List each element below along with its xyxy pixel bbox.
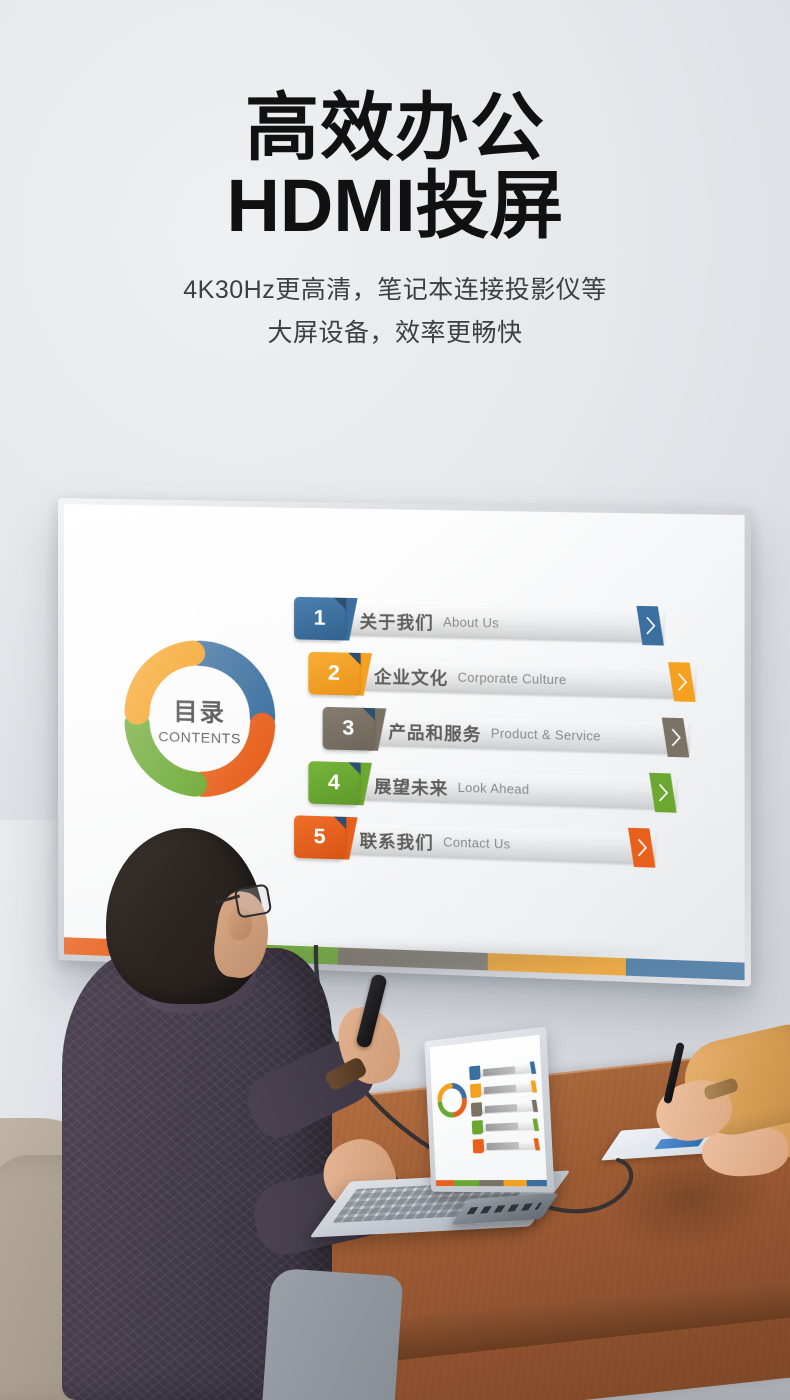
- laptop-color-strip: [436, 1180, 547, 1186]
- laptop-menu-item-4: [472, 1117, 542, 1135]
- slide-menu-item-4[interactable]: 4 展望未来 Look Ahead: [308, 761, 695, 817]
- item-number-badge: 1: [294, 597, 345, 641]
- item-label-en: Look Ahead: [458, 780, 530, 796]
- laptop-item-badge: [470, 1084, 482, 1099]
- lstrip-amber: [503, 1180, 526, 1186]
- item-number-badge: 4: [308, 761, 359, 805]
- hub-cable: [540, 1150, 680, 1240]
- ring-center-text: 目录 CONTENTS: [122, 690, 278, 747]
- hero-text-block: 高效办公 HDMI投屏 4K30Hz更高清，笔记本连接投影仪等 大屏设备，效率更…: [0, 0, 790, 430]
- item-label-cn: 关于我们: [360, 607, 434, 634]
- laptop-contents-ring-logo: [436, 1081, 469, 1120]
- item-label-en: Contact Us: [443, 835, 510, 851]
- lstrip-orange-red: [436, 1180, 455, 1186]
- laptop-screen: [430, 1035, 547, 1186]
- glasses-lens: [234, 883, 273, 918]
- laptop-lid: [424, 1027, 554, 1193]
- item-label-en: About Us: [443, 615, 499, 630]
- item-label-en: Corporate Culture: [458, 670, 567, 687]
- laptop-menu-list: [469, 1060, 542, 1157]
- slide-menu-item-2[interactable]: 2 企业文化 Corporate Culture: [308, 652, 695, 706]
- lstrip-taupe: [479, 1180, 504, 1186]
- item-label-cn: 产品和服务: [388, 718, 481, 746]
- item-labels: 企业文化 Corporate Culture: [374, 660, 566, 694]
- item-label-cn: 展望未来: [374, 772, 448, 800]
- laptop-menu-item-2: [470, 1079, 539, 1099]
- presenter-glasses-icon: [214, 882, 270, 922]
- item-number-badge: 2: [308, 652, 359, 696]
- item-label-en: Product & Service: [491, 726, 601, 743]
- ring-label-cn: 目录: [122, 690, 278, 729]
- hero-subtitle: 4K30Hz更高清，笔记本连接投影仪等 大屏设备，效率更畅快: [0, 269, 790, 357]
- contents-ring-logo: 目录 CONTENTS: [122, 637, 278, 800]
- chevron-glyph: [676, 672, 688, 693]
- laptop-ring-arcs-icon: [436, 1081, 469, 1120]
- item-labels: 关于我们 About Us: [360, 605, 499, 638]
- item-labels: 产品和服务 Product & Service: [388, 716, 600, 751]
- slide-menu-item-3[interactable]: 3 产品和服务 Product & Service: [323, 707, 696, 762]
- chevron-glyph: [644, 615, 656, 636]
- laptop-menu-item-5: [473, 1137, 543, 1154]
- chevron-glyph: [657, 782, 669, 803]
- hero-subtitle-line2: 大屏设备，效率更畅快: [0, 312, 790, 356]
- laptop-item-badge: [469, 1066, 481, 1081]
- laptop-menu-item-1: [469, 1060, 538, 1081]
- hero-title-line2: HDMI投屏: [0, 169, 790, 243]
- presenter-legs: [261, 1268, 404, 1400]
- lstrip-green: [454, 1180, 479, 1186]
- hero-title-line1: 高效办公: [0, 92, 790, 165]
- item-label-cn: 企业文化: [374, 662, 448, 689]
- laptop-item-badge: [471, 1102, 483, 1117]
- laptop-item-text: [487, 1142, 520, 1150]
- product-marketing-page: 目录 CONTENTS 1 关于我们 About Us: [0, 0, 790, 1400]
- slide-menu-item-1[interactable]: 1 关于我们 About Us: [294, 597, 696, 651]
- hub-cable-path: [540, 1150, 680, 1240]
- hero-subtitle-line1: 4K30Hz更高清，笔记本连接投影仪等: [0, 269, 790, 313]
- chevron-glyph: [636, 837, 648, 858]
- item-number-badge: 3: [323, 707, 374, 751]
- laptop-menu-item-3: [471, 1098, 540, 1117]
- item-labels: 展望未来 Look Ahead: [374, 770, 529, 804]
- laptop-item-badge: [473, 1139, 485, 1153]
- laptop-item-badge: [472, 1120, 484, 1134]
- chevron-glyph: [670, 727, 682, 748]
